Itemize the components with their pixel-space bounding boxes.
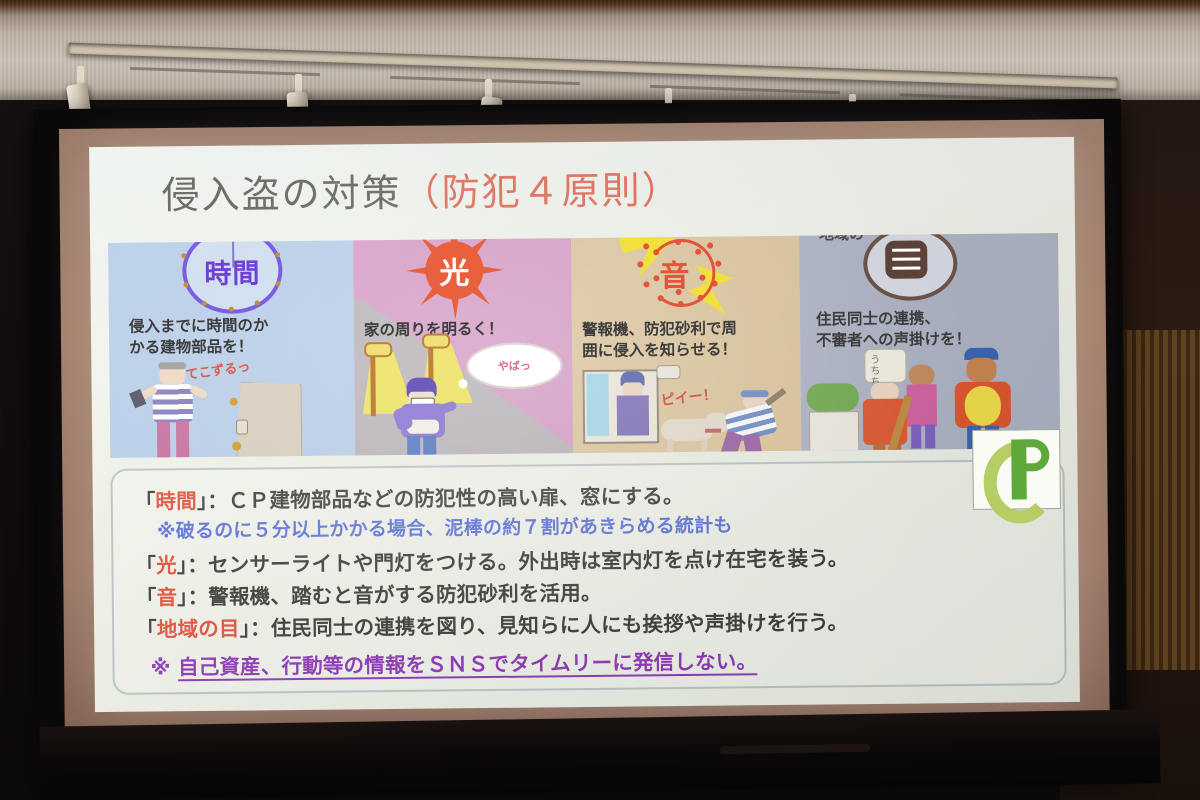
open-quote: 「 (136, 585, 157, 609)
panel-time-caption: 侵入までに時間のか かる建物部品を！ (129, 315, 269, 358)
sun-icon: 光 (417, 238, 492, 308)
panel-eye-caption: 住民同士の連携、 不審者への声掛けを！ (816, 308, 971, 351)
panel-sound-sfx: ピイー！ (660, 384, 718, 410)
panel-eye-badge-label: 地域の (819, 233, 864, 245)
body-key-light: 光 (156, 553, 177, 577)
body-text-light: 」：センサーライトや門灯をつける。外出時は室内灯を点け在宅を装う。 (177, 546, 849, 577)
panel-light-sfx: やばっ (498, 358, 531, 374)
body-line-light: 「光」：センサーライトや門灯をつける。外出時は室内灯を点け在宅を装う。 (135, 541, 848, 578)
projected-slide: 侵入盗の対策（防犯４原則） (89, 137, 1080, 712)
panel-sound-badge-label: 音 (659, 251, 689, 295)
body-text-sound: 」：警報機、踏むと音がする防犯砂利を活用。 (177, 581, 602, 609)
body-line-eye: 「地域の目」：住民同士の連携を図り、見知らに人にも挨拶や声掛けを行う。 (136, 605, 848, 642)
open-quote: 「 (135, 553, 156, 577)
summary-textbox: 「時間」：ＣＰ建物部品などの防犯性の高い扉、窓にする。 ※破るのに５分以上かかる… (110, 459, 1066, 695)
slide-title-paren: （防犯４原則） (401, 168, 681, 215)
clock-icon: 時間 (182, 240, 283, 314)
panel-time: 時間 侵入までに時間のか かる建物部品を！ (108, 240, 355, 458)
body-text-eye: 」：住民同士の連携を図り、見知らに人にも挨拶や声掛けを行う。 (240, 610, 849, 640)
panel-time-sfx: てこずるっ (184, 356, 251, 383)
panel-sound: 音 警報機、防犯砂利で周 囲に侵入を知らせる！ ピイー！ (571, 236, 801, 453)
principle-panels: 時間 侵入までに時間のか かる建物部品を！ (108, 233, 1060, 458)
body-text-time: 」：ＣＰ建物部品などの防犯性の高い扉、窓にする。 (197, 484, 684, 513)
caption-line: 警報機、防犯砂利で周 (582, 318, 737, 340)
footer-warning-line: ※ 自己資産、行動等の情報をＳＮＳでタイムリーに発信しない。 (150, 644, 757, 680)
panel-light: 光 家の周りを明るく！ (353, 238, 573, 455)
body-line-note: ※破るのに５分以上かかる場合、泥棒の約７割があきらめる統計も (157, 510, 733, 543)
panel-community-eye: 地域の 住民同士の連携、 不審者への声掛けを！ (799, 233, 1060, 451)
open-quote: 「 (135, 489, 156, 513)
footer-warning-text: 自己資産、行動等の情報をＳＮＳでタイムリーに発信しない。 (178, 649, 757, 679)
footer-mark: ※ (150, 655, 170, 679)
caption-line: 不審者への声掛けを！ (816, 329, 971, 351)
caption-line: 住民同士の連携、 (816, 308, 971, 330)
thought-bubble: やばっ (466, 342, 562, 389)
body-line-time: 「時間」：ＣＰ建物部品などの防犯性の高い扉、窓にする。 (135, 479, 684, 515)
panel-light-badge-label: 光 (425, 241, 484, 300)
eye-icon: 地域の (819, 233, 970, 295)
body-line-sound: 「音」：警報機、踏むと音がする防犯砂利を活用。 (136, 576, 602, 611)
open-quote: 「 (136, 617, 157, 641)
slide-title-main: 侵入盗の対策 (161, 171, 401, 218)
cp-mark-logo (972, 429, 1061, 510)
caption-line: 侵入までに時間のか (129, 315, 269, 337)
photo-scene: 侵入盗の対策（防犯４原則） (0, 0, 1200, 800)
panel-sound-caption: 警報機、防犯砂利で周 囲に侵入を知らせる！ (582, 318, 737, 361)
sound-burst-icon: 音 (625, 236, 730, 318)
body-key-sound: 音 (156, 585, 177, 609)
body-key-eye: 地域の目 (157, 617, 240, 642)
slide-title: 侵入盗の対策（防犯４原則） (161, 159, 682, 219)
caption-line: かる建物部品を！ (129, 336, 269, 358)
caption-line: 囲に侵入を知らせる！ (582, 339, 737, 361)
body-key-time: 時間 (155, 489, 197, 513)
